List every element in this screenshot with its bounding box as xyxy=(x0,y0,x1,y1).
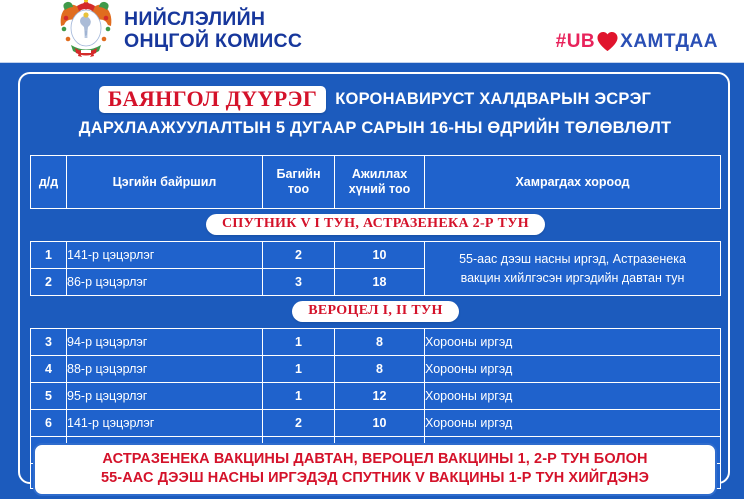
poster-root: НИЙСЛЭЛИЙН ОНЦГОЙ КОМИСС #UB ХАМТДАА БАЯ… xyxy=(0,0,750,499)
footer-line-2: 55-ААС ДЭЭШ НАСНЫ ИРГЭДЭД СПУТНИК V ВАКЦ… xyxy=(41,469,709,488)
row-index: 2 xyxy=(31,269,67,296)
mongolia-state-emblem-icon xyxy=(55,0,117,62)
row-people: 8 xyxy=(335,356,425,383)
merged-desc-l2: вакцин хийлгэсэн иргэдийн давтан тун xyxy=(461,271,685,285)
row-index: 6 xyxy=(31,410,67,437)
row-location: 94-р цэцэрлэг xyxy=(67,329,263,356)
row-index: 3 xyxy=(31,329,67,356)
district-badge: БАЯНГОЛ ДҮҮРЭГ xyxy=(99,86,326,113)
section-banner-cell-1: СПУТНИК V I ТУН, АСТРАЗЕНЕКА 2-Р ТУН xyxy=(31,209,721,242)
row-location: 86-р цэцэрлэг xyxy=(67,269,263,296)
col-header-people-l2: хүний тоо xyxy=(349,182,411,196)
row-teams: 3 xyxy=(263,269,335,296)
hashtag-word: ХАМТДАА xyxy=(620,32,718,52)
row-people: 18 xyxy=(335,269,425,296)
row-description: Хорооны иргэд xyxy=(425,383,721,410)
title-line-1: БАЯНГОЛ ДҮҮРЭГ КОРОНАВИРУСТ ХАЛДВАРЫН ЭС… xyxy=(20,86,730,113)
row-location: 95-р цэцэрлэг xyxy=(67,383,263,410)
section-banner-cell-2: ВЕРОЦЕЛ I, II ТУН xyxy=(31,296,721,329)
row-description: Хорооны иргэд xyxy=(425,410,721,437)
row-people: 10 xyxy=(335,242,425,269)
row-teams: 1 xyxy=(263,356,335,383)
org-title-line2: ОНЦГОЙ КОМИСС xyxy=(124,30,302,52)
row-people: 10 xyxy=(335,410,425,437)
row-index: 4 xyxy=(31,356,67,383)
row-people: 8 xyxy=(335,329,425,356)
row-teams: 2 xyxy=(263,410,335,437)
table-header-row: д/д Цэгийн байршил Багийн тоо Ажиллах хү… xyxy=(31,156,721,209)
row-people: 12 xyxy=(335,383,425,410)
col-header-teams-l2: тоо xyxy=(288,182,309,196)
row-teams: 2 xyxy=(263,242,335,269)
section-banner-row-1: СПУТНИК V I ТУН, АСТРАЗЕНЕКА 2-Р ТУН xyxy=(31,209,721,242)
title-line1-rest: КОРОНАВИРУСТ ХАЛДВАРЫН ЭСРЭГ xyxy=(335,90,651,109)
schedule-table-wrap: д/д Цэгийн байршил Багийн тоо Ажиллах хү… xyxy=(30,155,720,489)
org-title-line1: НИЙСЛЭЛИЙН xyxy=(124,8,265,30)
heart-icon xyxy=(596,31,619,52)
col-header-teams-l1: Багийн xyxy=(276,167,320,181)
row-location: 141-р цэцэрлэг xyxy=(67,410,263,437)
section-banner-row-2: ВЕРОЦЕЛ I, II ТУН xyxy=(31,296,721,329)
section-banner-1: СПУТНИК V I ТУН, АСТРАЗЕНЕКА 2-Р ТУН xyxy=(206,214,545,235)
row-description: Хорооны иргэд xyxy=(425,329,721,356)
col-header-teams: Багийн тоо xyxy=(263,156,335,209)
row-description-merged: 55-аас дээш насны иргэд, Астразенека вак… xyxy=(425,242,721,296)
col-header-districts: Хамрагдах хороод xyxy=(425,156,721,209)
schedule-table: д/д Цэгийн байршил Багийн тоо Ажиллах хү… xyxy=(30,155,721,489)
footer-line-1: АСТРАЗЕНЕКА ВАКЦИНЫ ДАВТАН, ВЕРОЦЕЛ ВАКЦ… xyxy=(41,450,709,469)
col-header-people-l1: Ажиллах xyxy=(352,167,407,181)
row-teams: 1 xyxy=(263,383,335,410)
row-location: 88-р цэцэрлэг xyxy=(67,356,263,383)
col-header-people: Ажиллах хүний тоо xyxy=(335,156,425,209)
row-index: 1 xyxy=(31,242,67,269)
hashtag-prefix: #UB xyxy=(556,32,596,52)
table-row: 3 94-р цэцэрлэг 1 8 Хорооны иргэд xyxy=(31,329,721,356)
page-title: БАЯНГОЛ ДҮҮРЭГ КОРОНАВИРУСТ ХАЛДВАРЫН ЭС… xyxy=(20,86,730,138)
table-row: 5 95-р цэцэрлэг 1 12 Хорооны иргэд xyxy=(31,383,721,410)
row-index: 5 xyxy=(31,383,67,410)
footer-banner: АСТРАЗЕНЕКА ВАКЦИНЫ ДАВТАН, ВЕРОЦЕЛ ВАКЦ… xyxy=(33,443,717,496)
merged-desc-l1: 55-аас дээш насны иргэд, Астразенека xyxy=(459,252,686,266)
col-header-location: Цэгийн байршил xyxy=(67,156,263,209)
organization-title: НИЙСЛЭЛИЙН ОНЦГОЙ КОМИСС xyxy=(124,8,302,52)
table-row: 6 141-р цэцэрлэг 2 10 Хорооны иргэд xyxy=(31,410,721,437)
hashtag-badge: #UB ХАМТДАА xyxy=(540,26,734,58)
row-description: Хорооны иргэд xyxy=(425,356,721,383)
table-row: 4 88-р цэцэрлэг 1 8 Хорооны иргэд xyxy=(31,356,721,383)
section-banner-2: ВЕРОЦЕЛ I, II ТУН xyxy=(292,301,458,322)
table-row: 1 141-р цэцэрлэг 2 10 55-аас дээш насны … xyxy=(31,242,721,269)
col-header-index: д/д xyxy=(31,156,67,209)
title-line-2: ДАРХЛААЖУУЛАЛТЫН 5 ДУГААР САРЫН 16-НЫ ӨД… xyxy=(20,119,730,138)
row-location: 141-р цэцэрлэг xyxy=(67,242,263,269)
row-teams: 1 xyxy=(263,329,335,356)
